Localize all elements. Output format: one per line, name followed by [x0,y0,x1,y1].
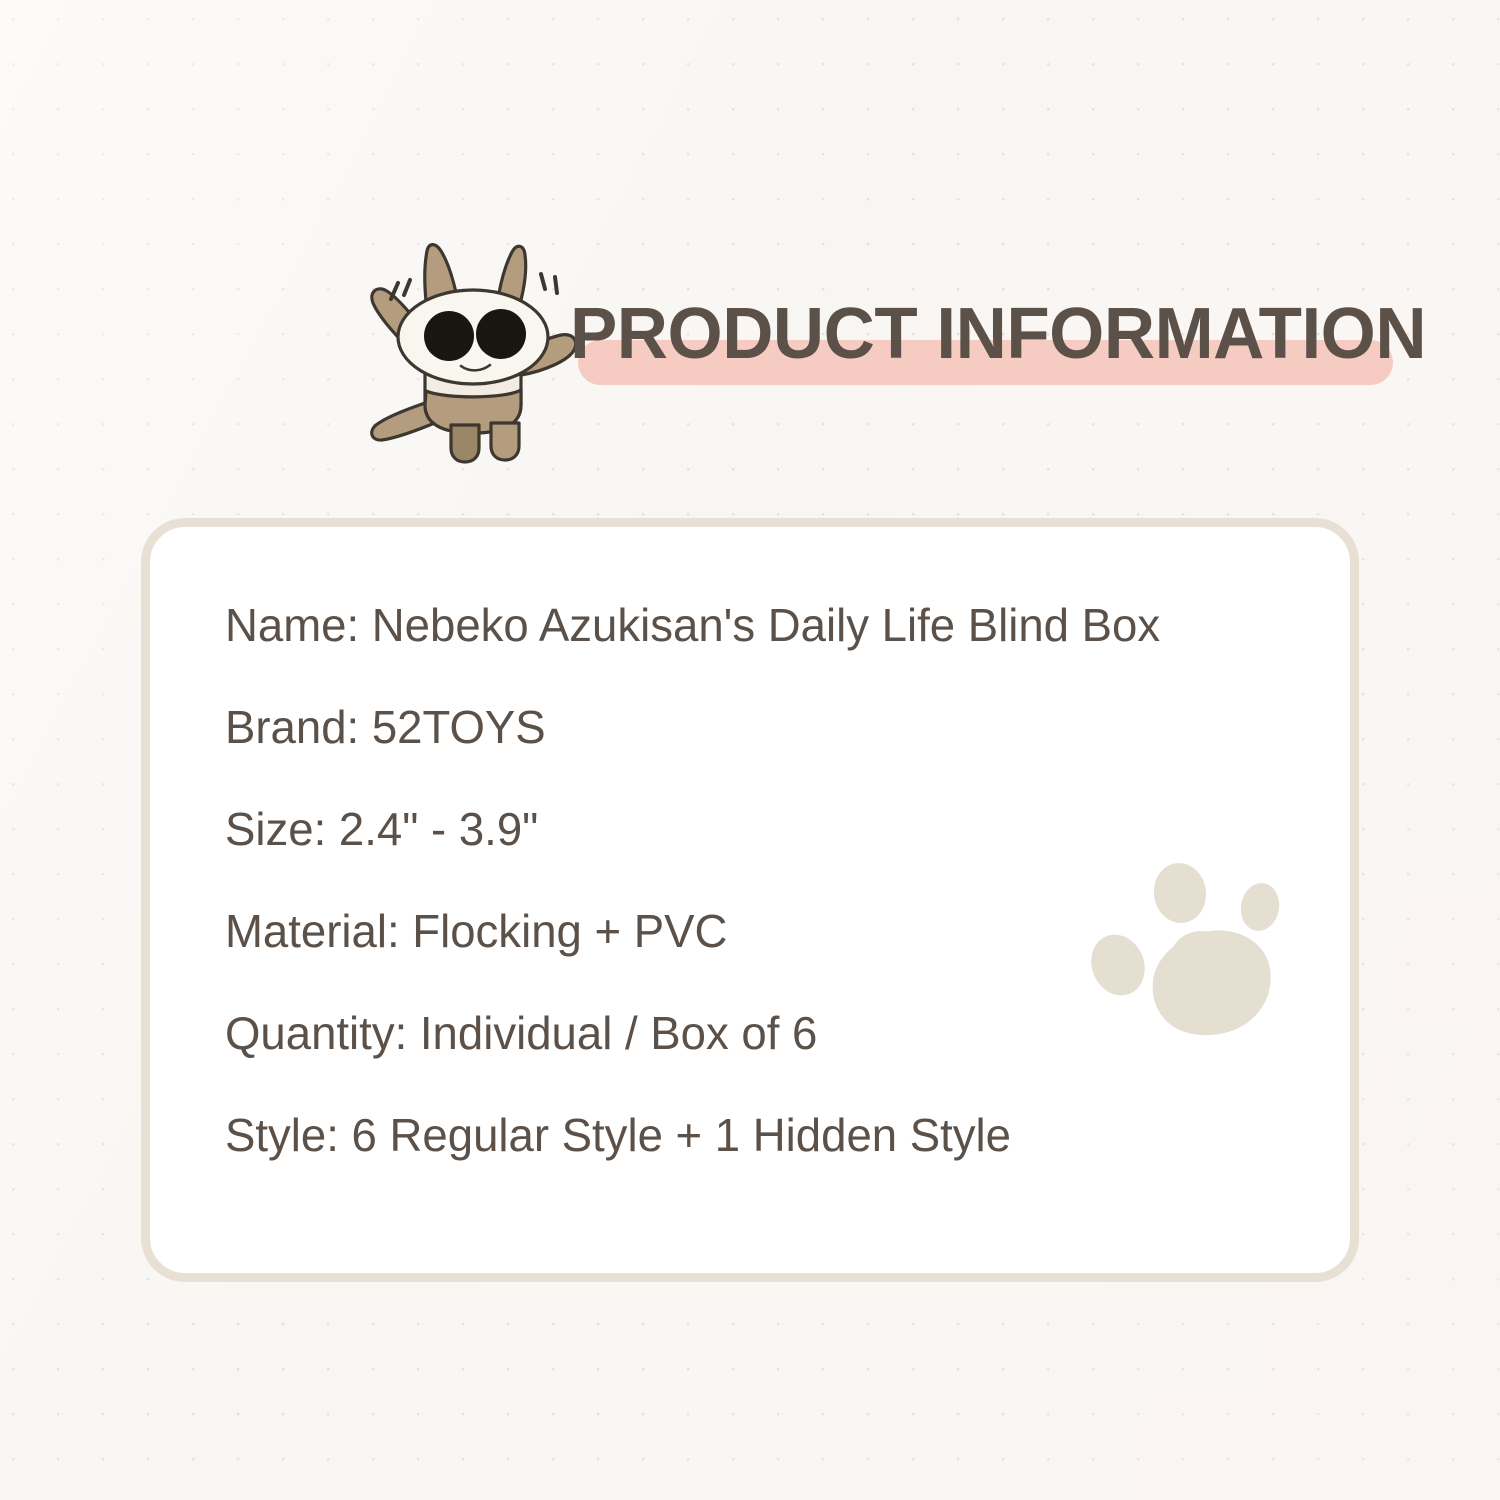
spec-row-quantity: Quantity: Individual / Box of 6 [225,1003,1299,1063]
product-spec-list: Name: Nebeko Azukisan's Daily Life Blind… [225,595,1310,1165]
siamese-cat-mascot-icon [345,233,600,473]
product-information-page: PRODUCT INFORMATION Name: Nebeko Azukisa… [0,0,1500,1500]
spec-row-name: Name: Nebeko Azukisan's Daily Life Blind… [225,595,1299,655]
product-info-card: Name: Nebeko Azukisan's Daily Life Blind… [141,518,1359,1282]
spec-row-material: Material: Flocking + PVC [225,901,1299,961]
page-header: PRODUCT INFORMATION [0,225,1500,480]
page-title-group: PRODUCT INFORMATION [570,285,1400,405]
spec-row-brand: Brand: 52TOYS [225,697,1299,757]
page-title: PRODUCT INFORMATION [570,285,1388,383]
spec-row-size: Size: 2.4" - 3.9" [225,799,1299,859]
spec-row-style: Style: 6 Regular Style + 1 Hidden Style [225,1105,1299,1165]
